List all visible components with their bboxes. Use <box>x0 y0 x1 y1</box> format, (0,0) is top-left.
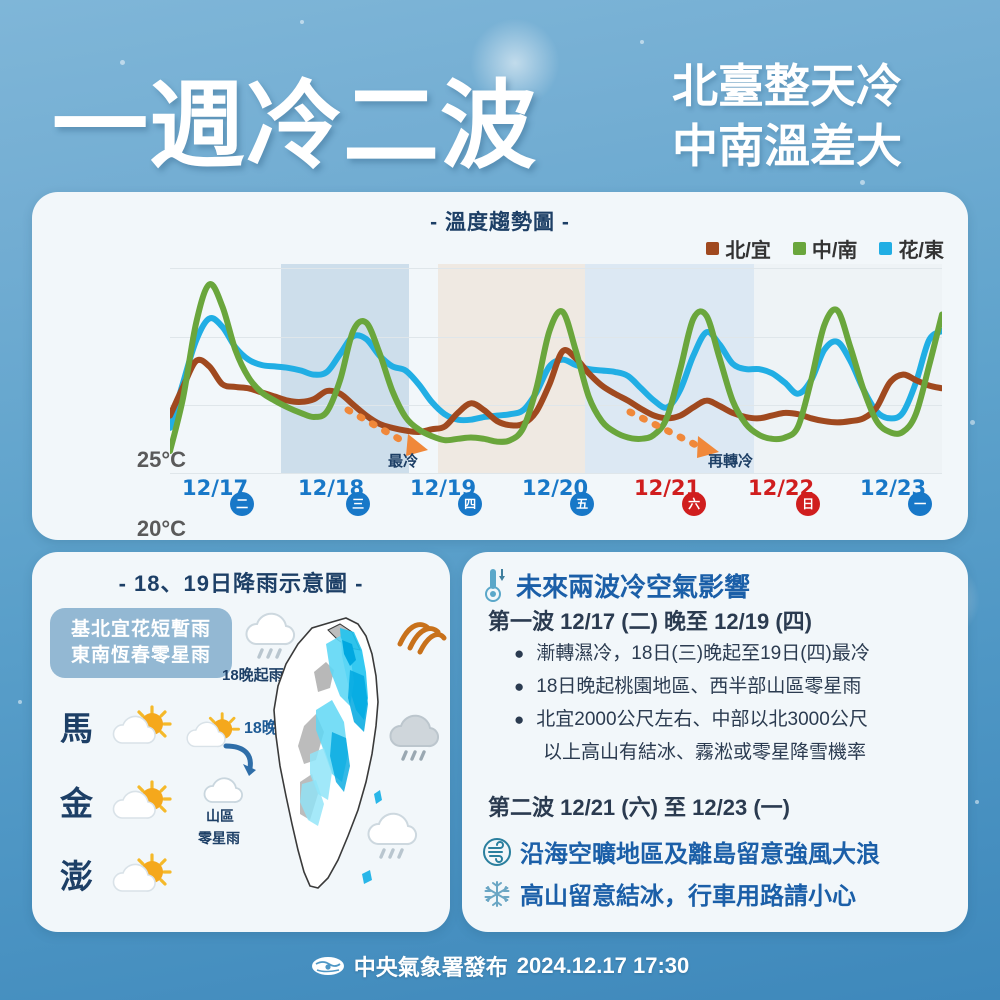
mountain-note-line-2: 零星雨 <box>198 828 240 848</box>
list-item: ● 北宜2000公尺左右、中部以北3000公尺 <box>514 706 964 734</box>
rain-summary-badge: 基北宜花短暫雨 東南恆春零星雨 <box>50 608 232 678</box>
legend-item-central-south: 中/南 <box>793 234 858 263</box>
annotation-second-cold: 再轉冷 <box>708 450 753 471</box>
island-row-kinmen: 金 <box>60 777 176 825</box>
legend-swatch-north-yilan <box>706 242 719 255</box>
x-tick-12-20: 12/20 五 <box>522 476 588 500</box>
subtitle-line-1: 北臺整天冷 <box>672 56 972 116</box>
legend-item-hualien-east: 花/東 <box>879 234 944 263</box>
taiwan-rainfall-map <box>254 614 414 914</box>
snowflake-icon <box>482 879 512 909</box>
subtitle-line-2: 中南溫差大 <box>672 116 972 176</box>
page-subtitle: 北臺整天冷 中南溫差大 <box>672 56 972 176</box>
island-row-penghu: 澎 <box>60 850 176 898</box>
sun-cloud-icon <box>110 778 176 824</box>
warning-wind-text: 沿海空曠地區及離島留意強風大浪 <box>520 834 880 869</box>
x-tick-12-21: 12/21 六 <box>634 476 700 500</box>
warning-snow-row: 高山留意結冰，行車用路請小心 <box>482 876 856 911</box>
x-tick-weekday-12-21: 六 <box>682 492 706 516</box>
x-tick-12-18: 12/18 三 <box>298 476 364 500</box>
x-tick-weekday-12-19: 四 <box>458 492 482 516</box>
badge-line-1: 基北宜花短暫雨 <box>58 617 224 643</box>
map-title: - 18、19日降雨示意圖 - <box>32 566 450 598</box>
wave1-bullet-2: 18日晚起桃園地區、西半部山區零星雨 <box>536 673 861 701</box>
x-tick-weekday-12-18: 三 <box>346 492 370 516</box>
warning-snow-text: 高山留意結冰，行車用路請小心 <box>520 876 856 911</box>
rainfall-map-card: - 18、19日降雨示意圖 - 基北宜花短暫雨 東南恆春零星雨 馬 金 <box>32 552 450 932</box>
thermometer-icon <box>482 566 508 604</box>
sun-cloud-icon <box>110 851 176 897</box>
page-header: 一週冷二波 北臺整天冷 中南溫差大 <box>0 22 1000 177</box>
wave1-bullet-4: 以上高山有結冰、霧淞或零星降雪機率 <box>543 739 866 767</box>
cold-air-info-card: 未來兩波冷空氣影響 第一波 12/17 (二) 晚至 12/19 (四) ● 漸… <box>462 552 968 932</box>
x-tick-12-19: 12/19 四 <box>410 476 476 500</box>
chart-legend: 北/宜 中/南 花/東 <box>706 234 944 263</box>
island-label-kinmen: 金 <box>60 777 102 825</box>
bg-speck-3 <box>860 180 865 185</box>
legend-label-north-yilan: 北/宜 <box>725 234 771 263</box>
footer-datetime: 2024.12.17 17:30 <box>517 953 690 979</box>
wave2-title: 第二波 12/21 (六) 至 12/23 (一) <box>488 790 790 822</box>
sun-cloud-icon <box>110 703 176 749</box>
info-heading-text: 未來兩波冷空氣影響 <box>516 567 750 604</box>
legend-label-hualien-east: 花/東 <box>898 234 944 263</box>
bullet-dot-icon: ● <box>514 706 524 734</box>
info-heading-row: 未來兩波冷空氣影響 <box>482 566 750 604</box>
chart-x-axis: 12/17 二 12/18 三 12/19 四 12/20 五 12/21 六 … <box>170 476 942 532</box>
badge-line-2: 東南恆春零星雨 <box>58 643 224 669</box>
annotation-arrows <box>170 264 942 474</box>
x-tick-weekday-12-17: 二 <box>230 492 254 516</box>
temperature-trend-card: - 溫度趨勢圖 - 北/宜 中/南 花/東 25°C 20°C 15°C 10°… <box>32 192 968 540</box>
wave1-title: 第一波 12/17 (二) 晚至 12/19 (四) <box>488 604 812 636</box>
mountain-note-line-1: 山區 <box>206 806 234 826</box>
bullet-dot-icon: ● <box>514 673 524 701</box>
island-label-matsu: 馬 <box>60 702 102 750</box>
legend-swatch-central-south <box>793 242 806 255</box>
legend-item-north-yilan: 北/宜 <box>706 234 771 263</box>
chart-plot-area: 最冷 再轉冷 <box>170 264 942 474</box>
legend-label-central-south: 中/南 <box>812 234 858 263</box>
wave1-bullet-list: ● 漸轉濕冷，18日(三)晚起至19日(四)最冷 ● 18日晚起桃園地區、西半部… <box>514 640 964 739</box>
footer-agency: 中央氣象署發布 <box>354 950 508 982</box>
x-tick-12-22: 12/22 日 <box>748 476 814 500</box>
wind-icon <box>482 837 512 867</box>
island-row-matsu: 馬 <box>60 702 176 750</box>
wave1-bullet-3: 北宜2000公尺左右、中部以北3000公尺 <box>536 706 868 734</box>
x-tick-weekday-12-20: 五 <box>570 492 594 516</box>
wave1-bullet-1: 漸轉濕冷，18日(三)晚起至19日(四)最冷 <box>536 640 870 668</box>
page-footer: 中央氣象署發布 2024.12.17 17:30 <box>0 950 1000 982</box>
warning-wind-row: 沿海空曠地區及離島留意強風大浪 <box>482 834 880 869</box>
bullet-dot-icon: ● <box>514 640 524 668</box>
bg-speck-5 <box>970 420 975 425</box>
chart-title: - 溫度趨勢圖 - <box>32 206 968 236</box>
list-item: ● 漸轉濕冷，18日(三)晚起至19日(四)最冷 <box>514 640 964 668</box>
cwa-logo-icon <box>311 955 345 977</box>
x-tick-12-23: 12/23 一 <box>860 476 926 500</box>
annotation-coldest: 最冷 <box>388 450 418 471</box>
bg-speck-6 <box>18 700 22 704</box>
legend-swatch-hualien-east <box>879 242 892 255</box>
cloud-icon <box>202 774 254 806</box>
x-tick-12-17: 12/17 二 <box>182 476 248 500</box>
list-item: ● 18日晚起桃園地區、西半部山區零星雨 <box>514 673 964 701</box>
island-label-penghu: 澎 <box>60 850 102 898</box>
bg-speck-7 <box>975 800 979 804</box>
x-tick-weekday-12-23: 一 <box>908 492 932 516</box>
x-tick-weekday-12-22: 日 <box>796 492 820 516</box>
page-title: 一週冷二波 <box>52 48 537 187</box>
